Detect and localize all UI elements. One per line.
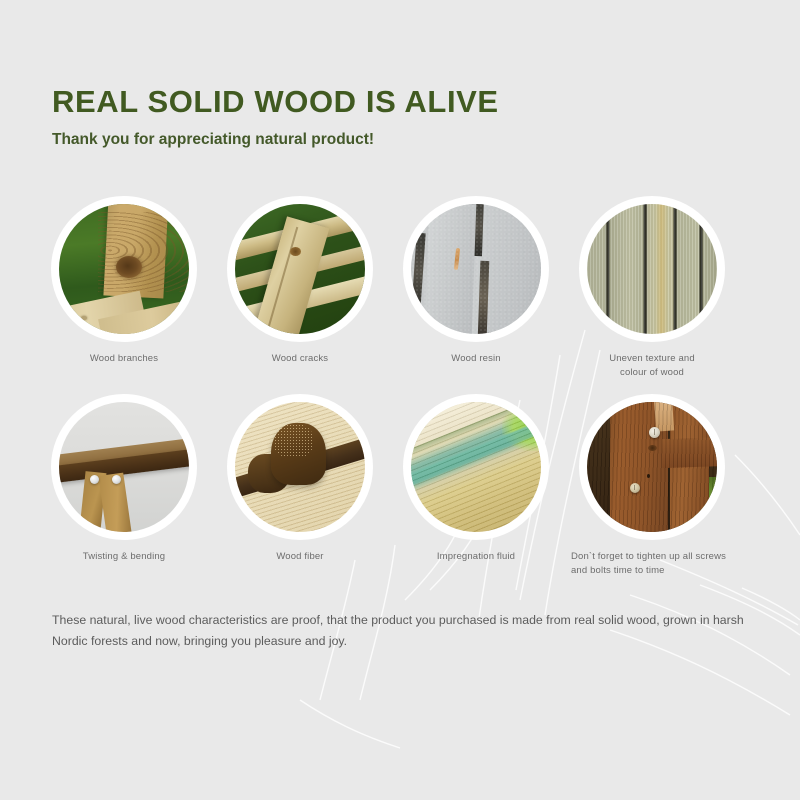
wood-resin-circle: [407, 200, 545, 338]
uneven-texture-photo: [587, 204, 717, 334]
impregnation-fluid-photo: [411, 402, 541, 532]
feature-caption: Don`t forget to tighten up all screws an…: [565, 550, 739, 578]
wood-fiber-photo: [235, 402, 365, 532]
feature-item-wood-branches: Wood branches: [37, 200, 211, 366]
page-title: REAL SOLID WOOD IS ALIVE: [52, 86, 499, 119]
wood-resin-photo: [411, 204, 541, 334]
feature-caption: Impregnation fluid: [389, 550, 563, 564]
tighten-screws-photo: [587, 402, 717, 532]
feature-item-wood-cracks: Wood cracks: [213, 200, 387, 366]
header: REAL SOLID WOOD IS ALIVE Thank you for a…: [52, 86, 499, 148]
twisting-bending-photo: [59, 402, 189, 532]
wood-branches-photo: [59, 204, 189, 334]
feature-item-tighten-screws: Don`t forget to tighten up all screws an…: [565, 398, 739, 578]
twisting-bending-circle: [55, 398, 193, 536]
wood-cracks-circle: [231, 200, 369, 338]
footnote-paragraph: These natural, live wood characteristics…: [52, 610, 752, 651]
feature-item-twisting-bending: Twisting & bending: [37, 398, 211, 564]
impregnation-fluid-circle: [407, 398, 545, 536]
wood-care-infographic: REAL SOLID WOOD IS ALIVE Thank you for a…: [0, 0, 800, 800]
feature-caption: Wood resin: [389, 352, 563, 366]
tighten-screws-circle: [583, 398, 721, 536]
page-subtitle: Thank you for appreciating natural produ…: [52, 131, 499, 148]
wood-cracks-photo: [235, 204, 365, 334]
feature-caption: Wood cracks: [213, 352, 387, 366]
feature-caption: Wood branches: [37, 352, 211, 366]
feature-item-wood-fiber: Wood fiber: [213, 398, 387, 564]
feature-item-wood-resin: Wood resin: [389, 200, 563, 366]
feature-caption: Uneven texture and colour of wood: [565, 352, 739, 380]
wood-branches-circle: [55, 200, 193, 338]
feature-caption: Wood fiber: [213, 550, 387, 564]
feature-item-impregnation-fluid: Impregnation fluid: [389, 398, 563, 564]
uneven-texture-circle: [583, 200, 721, 338]
feature-caption: Twisting & bending: [37, 550, 211, 564]
wood-fiber-circle: [231, 398, 369, 536]
feature-item-uneven-texture: Uneven texture and colour of wood: [565, 200, 739, 380]
